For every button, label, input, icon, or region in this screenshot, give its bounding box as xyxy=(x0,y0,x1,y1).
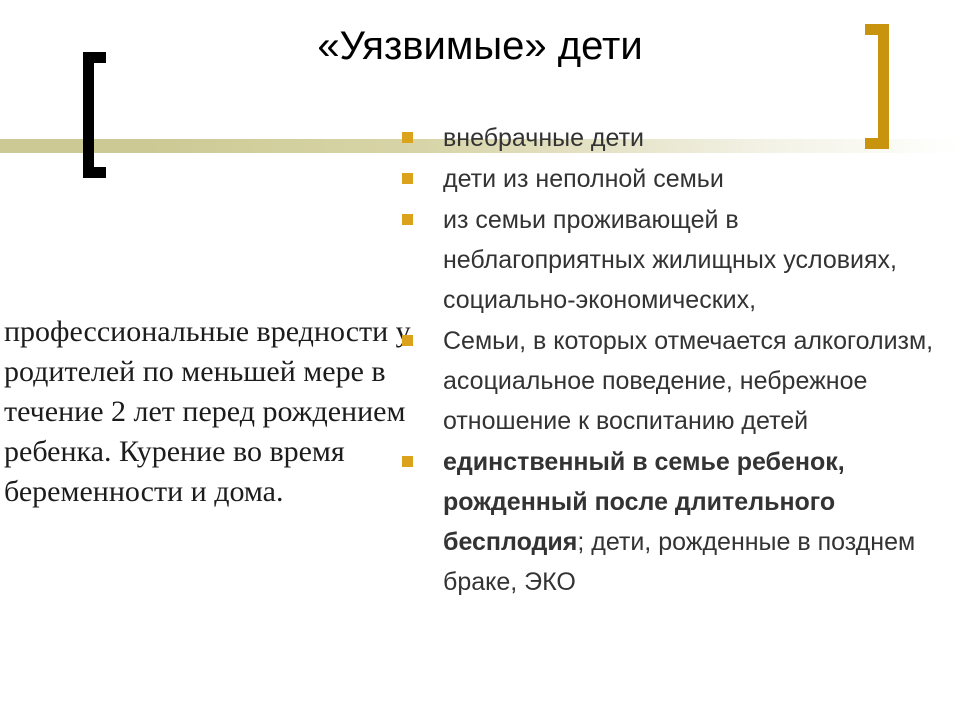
bullet-list: внебрачные дети дети из неполной семьи и… xyxy=(399,118,939,603)
left-note-text: профессиональные вредности у родителей п… xyxy=(4,312,438,512)
list-item-text: Семьи, в которых отмечается алкоголизм, … xyxy=(443,321,939,441)
list-item-text: единственный в семье ребенок, рожденный … xyxy=(443,442,939,602)
list-item-text: из семьи проживающей в неблагоприятных ж… xyxy=(443,200,939,320)
list-item[interactable]: единственный в семье ребенок, рожденный … xyxy=(399,442,939,602)
slide-title: «Уязвимые» дети xyxy=(120,22,840,70)
list-item[interactable]: дети из неполной семьи xyxy=(399,159,939,199)
bullet-square-icon xyxy=(402,335,413,346)
bullet-square-icon xyxy=(402,456,413,467)
left-bracket-decoration xyxy=(83,52,106,178)
bullet-square-icon xyxy=(402,132,413,143)
list-item[interactable]: из семьи проживающей в неблагоприятных ж… xyxy=(399,200,939,320)
list-item-text: внебрачные дети xyxy=(443,118,939,158)
list-item[interactable]: Семьи, в которых отмечается алкоголизм, … xyxy=(399,321,939,441)
list-item[interactable]: внебрачные дети xyxy=(399,118,939,158)
list-item-text: дети из неполной семьи xyxy=(443,159,939,199)
bullet-square-icon xyxy=(402,173,413,184)
slide-canvas: «Уязвимые» дети профессиональные вреднос… xyxy=(0,0,960,720)
bullet-square-icon xyxy=(402,214,413,225)
